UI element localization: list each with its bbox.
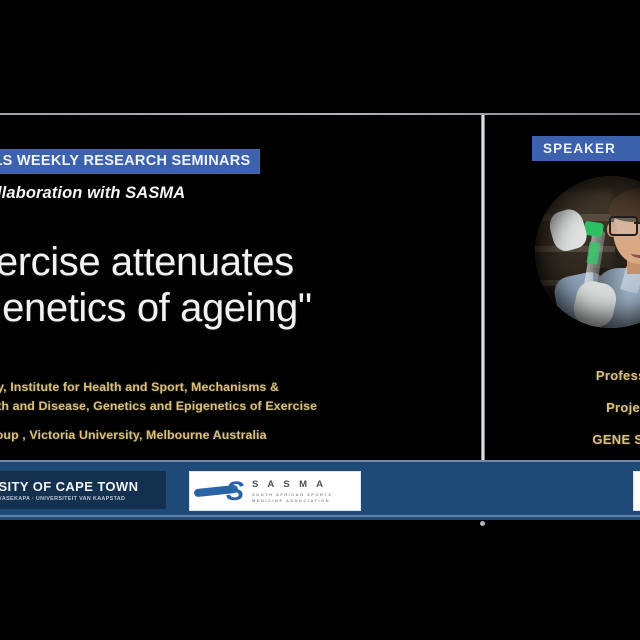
video-frame: HPALS WEEKLY RESEARCH SEMINARS In collab… [0, 0, 640, 640]
third-sponsor-logo [633, 471, 640, 511]
affiliation-line-1: Smart Study, Institute for Health and Sp… [0, 380, 279, 394]
slide-left-column: HPALS WEEKLY RESEARCH SEMINARS In collab… [0, 113, 481, 458]
letterbox-top [0, 0, 640, 113]
slide-title: Exercise attenuates pigenetics of ageing… [0, 239, 510, 331]
sasma-s-glyph: S [226, 479, 246, 503]
sasma-text-block: S A S M A SOUTH AFRICAN SPORTS MEDICINE … [252, 479, 333, 504]
sponsor-logo-bar: ERSITY OF CAPE TOWN E YASEKAPA · UNIVERS… [0, 460, 640, 520]
sasma-wordmark: S A S M A [252, 479, 333, 490]
logobar-hairline [0, 515, 640, 517]
sasma-swoosh-icon: S [190, 475, 252, 507]
playback-progress-dot[interactable] [480, 521, 485, 526]
speaker-role-line: Project Le [606, 400, 640, 415]
speaker-name-line-1: Professor Nir [596, 368, 640, 383]
letterbox-bottom [0, 520, 640, 640]
speaker-name-block: Professor Nir Project Le GENE Smart S [524, 352, 640, 448]
affiliation-line-2: ons in Health and Disease, Genetics and … [0, 399, 317, 413]
speaker-badge: SPEAKER [532, 136, 640, 161]
uct-logo-wordmark: ERSITY OF CAPE TOWN [0, 479, 138, 494]
affiliation-block: Smart Study, Institute for Health and Sp… [0, 359, 490, 464]
seminar-series-kicker: HPALS WEEKLY RESEARCH SEMINARS [0, 149, 260, 174]
uct-logo: ERSITY OF CAPE TOWN E YASEKAPA · UNIVERS… [0, 471, 166, 509]
affiliation-line-3: esearch Group , Victoria University, Mel… [0, 426, 490, 445]
collaboration-subtitle: In collaboration with SASMA [0, 184, 185, 203]
sasma-tagline: SOUTH AFRICAN SPORTS MEDICINE ASSOCIATIO… [252, 492, 333, 504]
sasma-logo: S S A S M A SOUTH AFRICAN SPORTS MEDICIN… [189, 471, 361, 511]
presentation-slide: HPALS WEEKLY RESEARCH SEMINARS In collab… [0, 113, 640, 520]
speaker-portrait-illustration [535, 176, 640, 328]
speaker-photo [535, 176, 640, 328]
uct-logo-subtitle: E YASEKAPA · UNIVERSITEIT VAN KAAPSTAD [0, 496, 125, 502]
speaker-project-line: GENE Smart S [592, 432, 640, 447]
slide-speaker-column: SPEAKER [485, 113, 640, 458]
